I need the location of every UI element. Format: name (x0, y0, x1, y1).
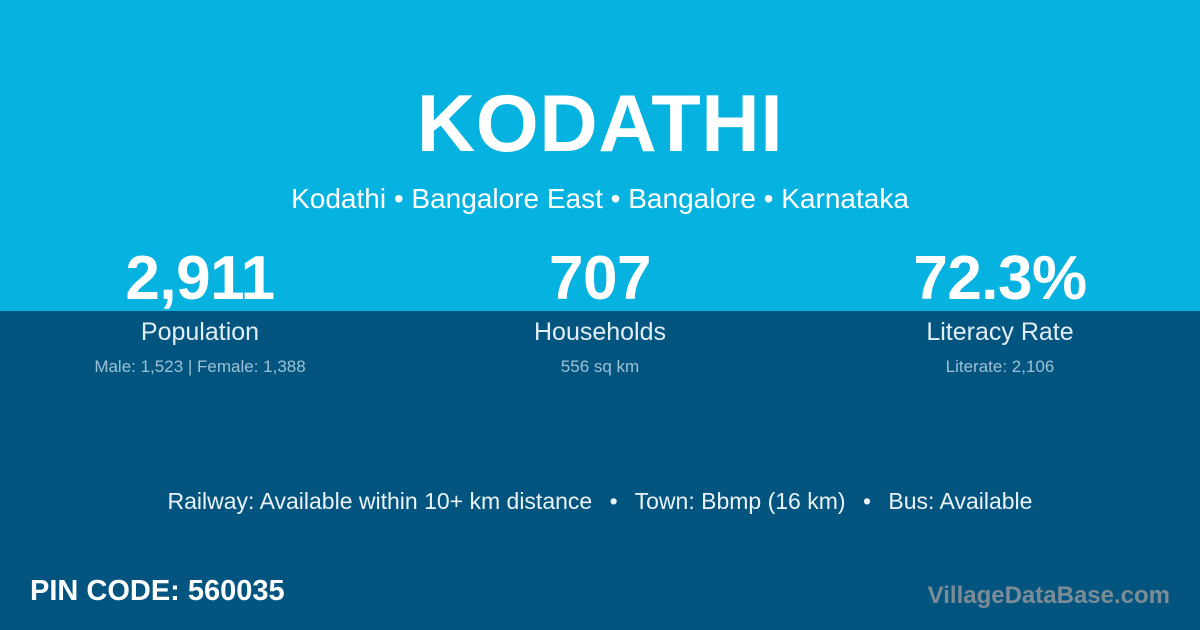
page-title: KODATHI (0, 76, 1200, 172)
stat-literacy-rate: 72.3% Literacy Rate Literate: 2,106 (800, 246, 1200, 377)
footer: PIN CODE: 560035 VillageDataBase.com (0, 570, 1200, 630)
households-label: Households (400, 317, 800, 347)
infrastructure-line: Railway: Available within 10+ km distanc… (0, 487, 1200, 515)
literacy-rate-label: Literacy Rate (800, 317, 1200, 347)
population-label: Population (0, 317, 400, 347)
railway-info: Railway: Available within 10+ km distanc… (168, 488, 593, 514)
village-summary-card: KODATHI Kodathi • Bangalore East • Banga… (0, 0, 1200, 630)
population-value: 2,911 (0, 246, 400, 312)
nearest-town-info: Town: Bbmp (16 km) (635, 488, 846, 514)
stat-population: 2,911 Population Male: 1,523 | Female: 1… (0, 246, 400, 377)
stats-row: 2,911 Population Male: 1,523 | Female: 1… (0, 246, 1200, 377)
households-value: 707 (400, 246, 800, 312)
literate-count: Literate: 2,106 (800, 356, 1200, 377)
site-brand: VillageDataBase.com (928, 581, 1170, 610)
bus-info: Bus: Available (888, 488, 1032, 514)
stat-households: 707 Households 556 sq km (400, 246, 800, 377)
literacy-rate-value: 72.3% (800, 246, 1200, 312)
infrastructure-separator-1: • (599, 487, 629, 515)
population-breakdown: Male: 1,523 | Female: 1,388 (0, 356, 400, 377)
breadcrumb: Kodathi • Bangalore East • Bangalore • K… (0, 182, 1200, 216)
infrastructure-separator-2: • (852, 487, 882, 515)
households-area: 556 sq km (400, 356, 800, 377)
pin-code: PIN CODE: 560035 (30, 574, 285, 608)
